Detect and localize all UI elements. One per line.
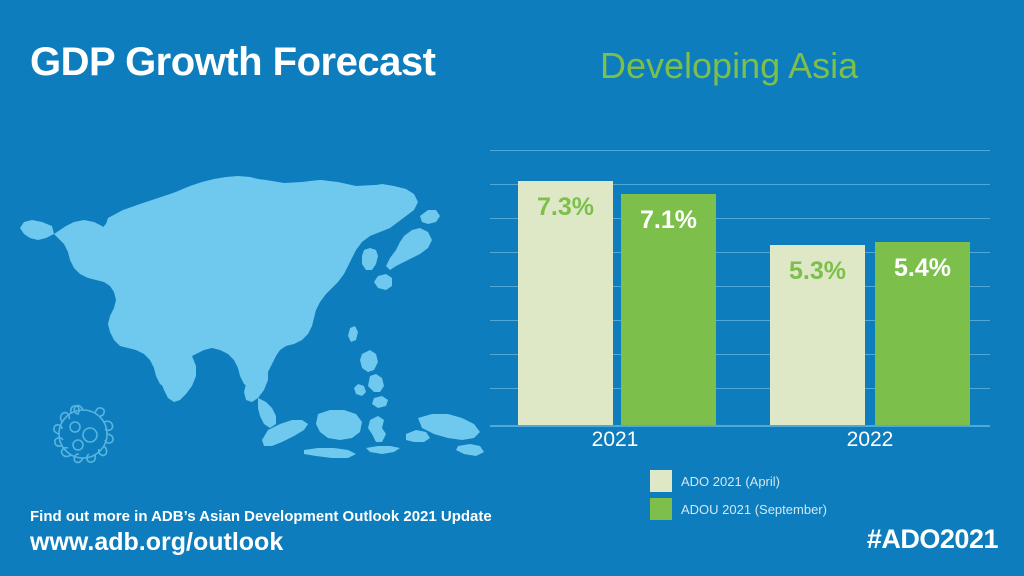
- bar-2021-ado-april[interactable]: 7.3%: [518, 181, 613, 425]
- bar-chart: 7.3% 7.1% 5.3% 5.4%: [490, 150, 995, 425]
- x-axis-label-2022: 2022: [810, 428, 930, 452]
- bar-value-label: 7.1%: [621, 206, 716, 235]
- legend-item-adou-september[interactable]: ADOU 2021 (September): [650, 498, 827, 520]
- bar-2022-ado-april[interactable]: 5.3%: [770, 245, 865, 425]
- coronavirus-icon: [42, 393, 124, 475]
- page-subtitle: Developing Asia: [600, 45, 858, 87]
- gridline: [490, 150, 990, 151]
- hashtag-label: #ADO2021: [867, 524, 998, 555]
- legend-label: ADO 2021 (April): [681, 474, 780, 489]
- bar-value-label: 5.3%: [770, 257, 865, 286]
- legend-swatch-light: [650, 470, 672, 492]
- page-title: GDP Growth Forecast: [30, 40, 435, 85]
- bar-2021-adou-september[interactable]: 7.1%: [621, 194, 716, 425]
- infographic-canvas: GDP Growth Forecast Developing Asia: [0, 0, 1024, 576]
- x-axis-label-2021: 2021: [555, 428, 675, 452]
- chart-baseline: [490, 425, 990, 427]
- legend-item-ado-april[interactable]: ADO 2021 (April): [650, 470, 827, 492]
- footer-tagline: Find out more in ADB’s Asian Development…: [30, 508, 492, 525]
- bar-value-label: 5.4%: [875, 254, 970, 283]
- footer-url[interactable]: www.adb.org/outlook: [30, 528, 283, 557]
- bar-2022-adou-september[interactable]: 5.4%: [875, 242, 970, 425]
- legend-swatch-green: [650, 498, 672, 520]
- chart-legend: ADO 2021 (April) ADOU 2021 (September): [650, 470, 827, 526]
- bar-value-label: 7.3%: [518, 193, 613, 222]
- legend-label: ADOU 2021 (September): [681, 502, 827, 517]
